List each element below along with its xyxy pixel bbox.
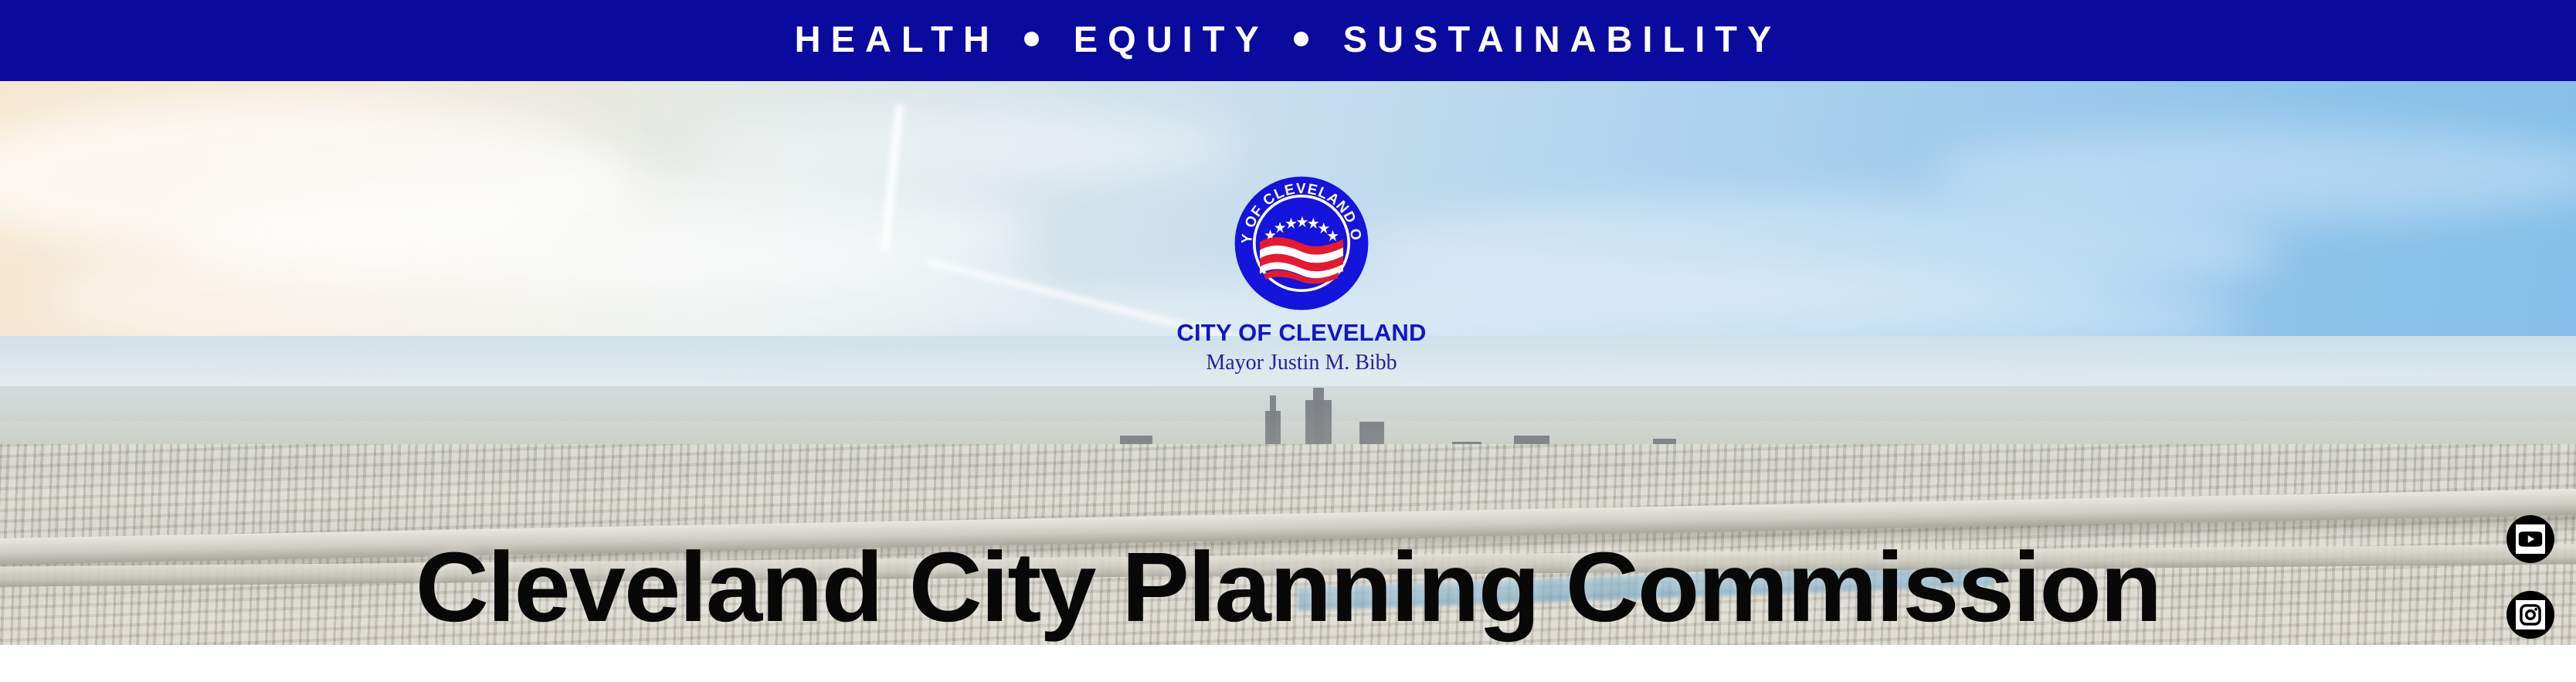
city-crest: CITY OF CLEVELAND OHIO: [1174, 174, 1429, 375]
crest-title: CITY OF CLEVELAND: [1174, 319, 1429, 347]
youtube-icon: [2516, 524, 2545, 554]
tagline-banner-inner: HEALTH EQUITY SUSTAINABILITY: [795, 21, 1782, 57]
page-footer-spacer: [0, 645, 2576, 682]
bullet-dot-icon: [1024, 32, 1039, 46]
instagram-link[interactable]: [2506, 591, 2554, 639]
tagline-word-equity: EQUITY: [1074, 21, 1269, 57]
page-root: HEALTH EQUITY SUSTAINABILITY: [0, 0, 2576, 682]
bullet-dot-icon: [1294, 32, 1308, 46]
crest-subtitle: Mayor Justin M. Bibb: [1174, 351, 1429, 375]
city-of-cleveland-seal-icon: CITY OF CLEVELAND OHIO: [1232, 174, 1371, 313]
instagram-icon: [2516, 600, 2545, 629]
tagline-word-health: HEALTH: [795, 21, 1000, 57]
hero-photo: CITY OF CLEVELAND OHIO: [0, 81, 2576, 645]
social-links: [2506, 515, 2554, 645]
page-title: Cleveland City Planning Commission: [0, 538, 2576, 637]
tagline-word-sustainability: SUSTAINABILITY: [1343, 21, 1782, 57]
tagline-banner: HEALTH EQUITY SUSTAINABILITY: [0, 0, 2576, 81]
youtube-link[interactable]: [2506, 515, 2554, 563]
cloud: [695, 112, 1236, 182]
